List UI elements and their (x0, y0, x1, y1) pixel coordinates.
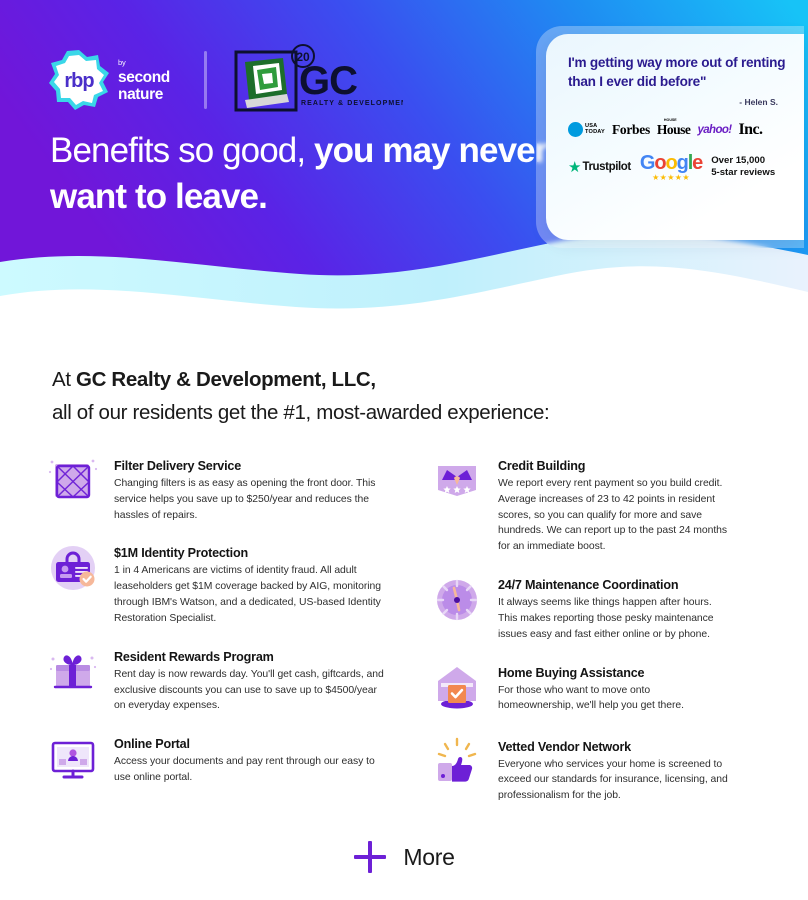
benefit-text: Resident Rewards Program Rent day is now… (114, 643, 384, 714)
benefit-item-online-portal[interactable]: Online Portal Access your documents and … (44, 730, 384, 788)
benefit-item-resident-rewards[interactable]: Resident Rewards Program Rent day is now… (44, 643, 384, 714)
benefit-text: Filter Delivery Service Changing filters… (114, 452, 384, 523)
trustpilot-label: Trustpilot (582, 161, 630, 173)
benefits-column-right: Credit Building We report every rent pay… (428, 452, 728, 820)
benefit-description: Rent day is now rewards day. You'll get … (114, 667, 384, 714)
testimonial-card: I'm getting way more out of renting than… (546, 34, 804, 240)
page-title: At GC Realty & Development, LLC, all of … (52, 363, 752, 429)
more-button[interactable]: More (0, 840, 808, 874)
usa-today-line2: TODAY (585, 130, 605, 136)
benefit-item-maintenance[interactable]: 24/7 Maintenance Coordination It always … (428, 571, 728, 642)
page-title-prefix: At (52, 368, 76, 391)
more-label: More (403, 844, 454, 871)
benefit-item-vendor-network[interactable]: Vetted Vendor Network Everyone who servi… (428, 733, 728, 804)
svg-text:GC: GC (299, 59, 357, 103)
rbp-by-text: by (118, 58, 126, 67)
plus-icon (353, 840, 387, 874)
google-wordmark: Google (640, 153, 702, 173)
trustpilot-star-icon: ★ (568, 160, 581, 175)
google-letter-o1: o (654, 152, 665, 174)
benefit-description: 1 in 4 Americans are victims of identity… (114, 563, 384, 626)
forbes-logo: Forbes (612, 122, 650, 138)
usa-today-logo: USA TODAY (568, 122, 605, 137)
benefit-title: 24/7 Maintenance Coordination (498, 578, 728, 592)
hero-banner: rbp by second nature (0, 0, 808, 310)
benefit-item-filter-delivery[interactable]: Filter Delivery Service Changing filters… (44, 452, 384, 523)
benefit-text: $1M Identity Protection 1 in 4 Americans… (114, 539, 384, 626)
svg-text:REALTY & DEVELOPMENT LLC: REALTY & DEVELOPMENT LLC (301, 100, 403, 107)
page-title-line2: all of our residents get the #1, most-aw… (52, 396, 752, 429)
clock-icon (428, 571, 486, 629)
house-logo-text: House (657, 122, 691, 137)
reviews-line1: Over 15,000 (711, 155, 775, 167)
google-letter-o2: o (665, 152, 676, 174)
reviews-row: ★ Trustpilot Google ★★★★★ Over 15,000 5-… (568, 153, 786, 182)
badge-stars-icon (428, 452, 486, 510)
benefit-title: Credit Building (498, 459, 728, 473)
svg-text:rbp: rbp (64, 70, 94, 92)
logo-divider (204, 51, 207, 109)
press-logos-row: USA TODAY Forbes HOUSEHouse yahoo! Inc. (568, 121, 786, 139)
benefit-title: $1M Identity Protection (114, 546, 384, 560)
second-nature-wordmark: by second nature (118, 56, 170, 103)
trustpilot-logo: ★ Trustpilot (568, 160, 631, 175)
benefit-title: Filter Delivery Service (114, 459, 384, 473)
second-nature-line1: second (118, 69, 170, 86)
reviews-count: Over 15,000 5-star reviews (711, 155, 775, 179)
flyer-page: rbp by second nature (0, 0, 808, 900)
benefit-title: Home Buying Assistance (498, 666, 728, 680)
benefits-column-left: Filter Delivery Service Changing filters… (44, 452, 384, 804)
benefit-text: Home Buying Assistance For those who wan… (498, 659, 728, 717)
google-letter-g1: G (640, 152, 654, 174)
logo-row: rbp by second nature (48, 44, 403, 116)
inc-logo: Inc. (739, 121, 763, 139)
benefit-text: Online Portal Access your documents and … (114, 730, 384, 788)
testimonial-quote: I'm getting way more out of renting than… (568, 54, 786, 92)
identity-card-icon (44, 539, 102, 597)
reviews-line2: 5-star reviews (711, 167, 775, 179)
benefit-description: We report every rent payment so you buil… (498, 476, 728, 555)
hero-headline: Benefits so good, you may never want to … (50, 128, 550, 219)
benefit-description: It always seems like things happen after… (498, 595, 728, 642)
google-logo: Google ★★★★★ (640, 153, 702, 182)
gift-icon (44, 643, 102, 701)
benefit-description: For those who want to move onto homeowne… (498, 683, 728, 715)
benefit-item-credit-building[interactable]: Credit Building We report every rent pay… (428, 452, 728, 555)
monitor-icon (44, 730, 102, 788)
google-letter-e: e (692, 152, 702, 174)
benefit-item-home-buying[interactable]: Home Buying Assistance For those who wan… (428, 659, 728, 717)
benefit-text: Credit Building We report every rent pay… (498, 452, 728, 555)
benefit-title: Vetted Vendor Network (498, 740, 728, 754)
google-letter-g2: g (677, 152, 688, 174)
house-check-icon (428, 659, 486, 717)
benefit-text: Vetted Vendor Network Everyone who servi… (498, 733, 728, 804)
company-name: GC Realty & Development, LLC, (76, 368, 376, 391)
filter-icon (44, 452, 102, 510)
yahoo-logo: yahoo! (697, 124, 731, 136)
house-logo-sup: HOUSE (664, 118, 677, 122)
headline-normal: Benefits so good, (50, 131, 314, 170)
gc-realty-logo: 20 GC REALTY & DEVELOPMENT LLC (233, 44, 403, 116)
google-stars-icon: ★★★★★ (652, 174, 690, 182)
benefit-description: Changing filters is as easy as opening t… (114, 476, 384, 523)
benefit-description: Access your documents and pay rent throu… (114, 754, 384, 786)
testimonial-attribution: - Helen S. (568, 97, 786, 107)
second-nature-line2: nature (118, 86, 170, 103)
benefit-description: Everyone who services your home is scree… (498, 757, 728, 804)
benefit-item-identity-protection[interactable]: $1M Identity Protection 1 in 4 Americans… (44, 539, 384, 626)
rbp-logo-mark: rbp (48, 49, 110, 111)
benefit-title: Online Portal (114, 737, 384, 751)
thumbs-up-icon (428, 733, 486, 791)
usa-today-dot-icon (568, 122, 583, 137)
benefit-text: 24/7 Maintenance Coordination It always … (498, 571, 728, 642)
house-logo: HOUSEHouse (657, 122, 691, 138)
testimonial-card-backdrop: I'm getting way more out of renting than… (536, 26, 804, 248)
benefit-title: Resident Rewards Program (114, 650, 384, 664)
page-title-line1: At GC Realty & Development, LLC, (52, 363, 752, 396)
